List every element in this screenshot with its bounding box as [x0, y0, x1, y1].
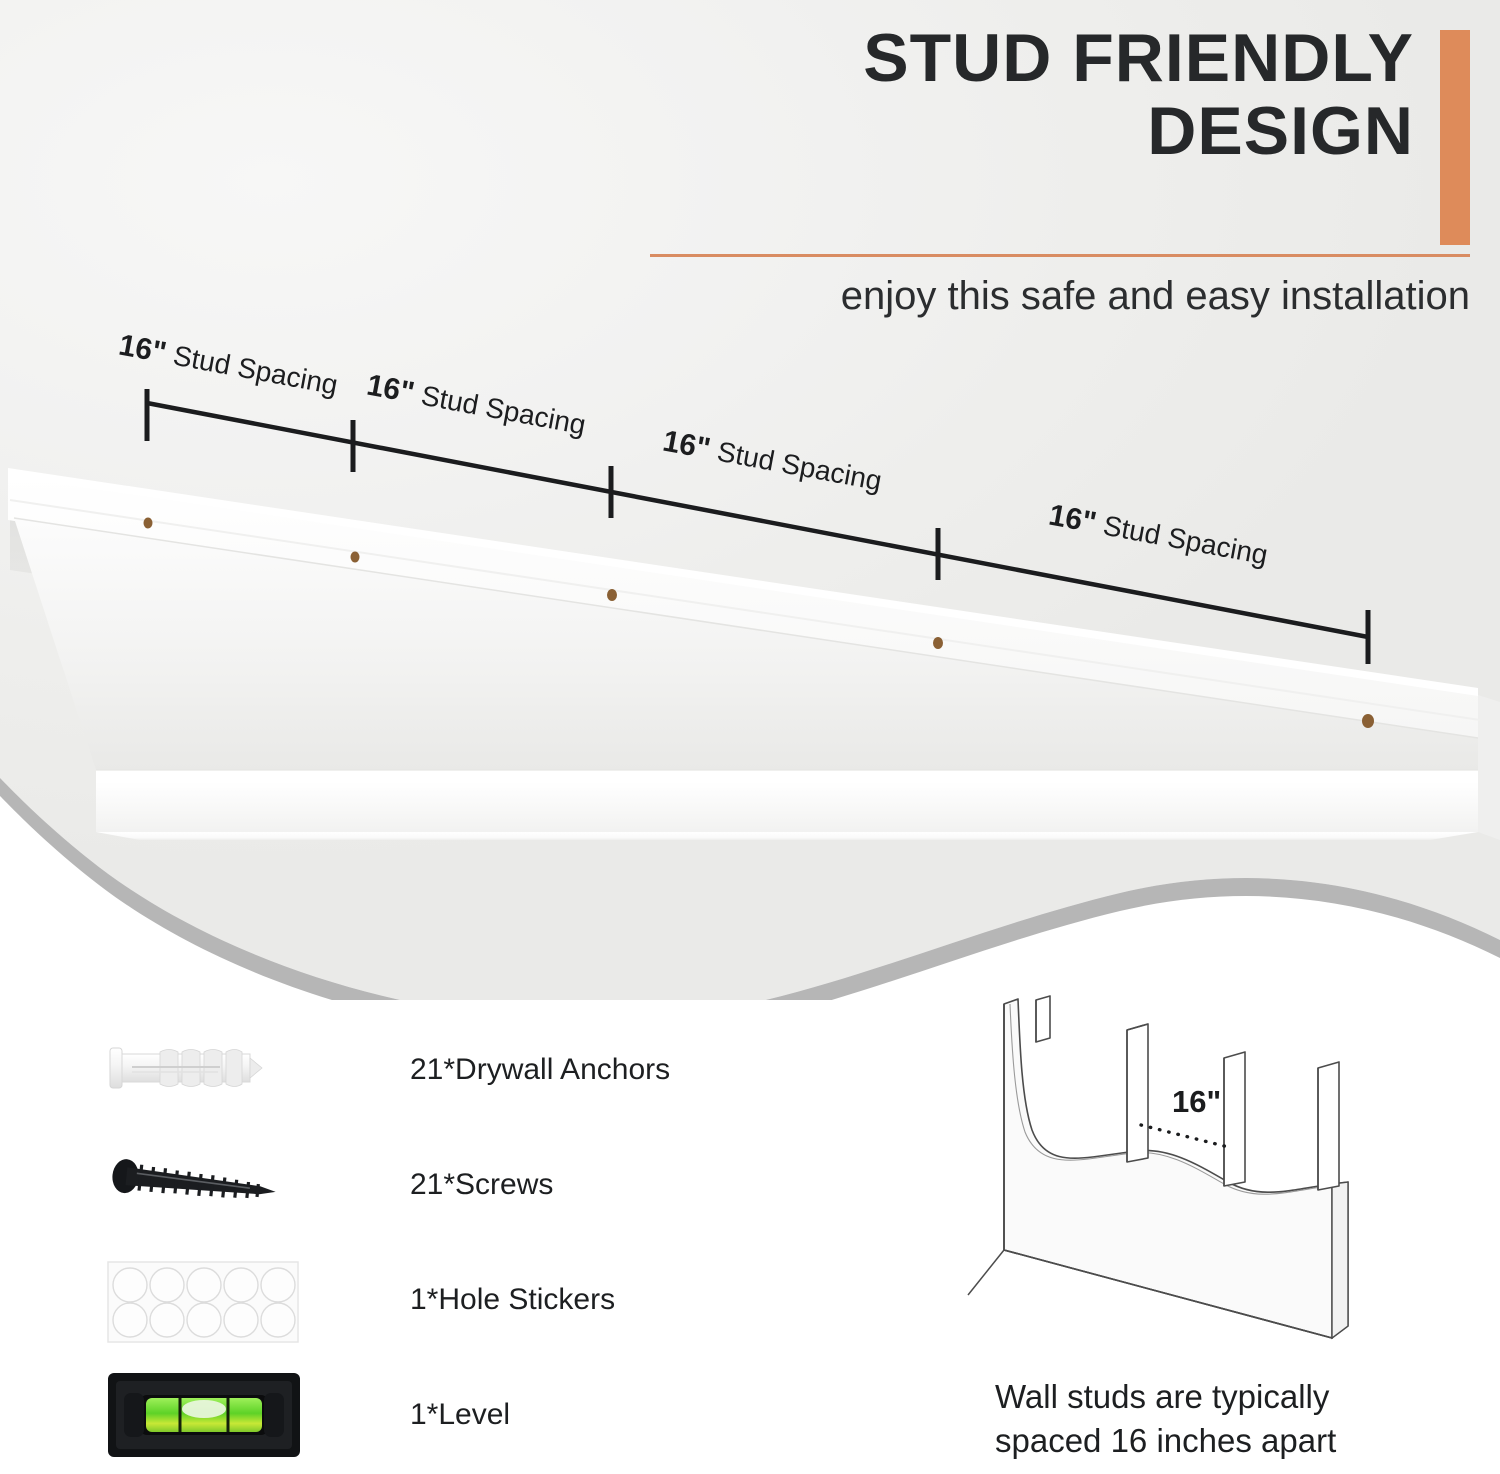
screw-hole [144, 518, 153, 529]
screw-hole [1362, 714, 1374, 728]
screw-hole [607, 589, 617, 601]
screw-icon [100, 1135, 320, 1235]
hole-stickers-icon [100, 1250, 320, 1350]
part-row: 1*Hole Stickers [100, 1242, 800, 1357]
title-line-2: DESIGN [650, 95, 1470, 168]
part-label: 21*Drywall Anchors [410, 1053, 670, 1087]
screw-hole [933, 637, 943, 649]
title-line-1: STUD FRIENDLY [650, 22, 1470, 95]
part-label: 1*Hole Stickers [410, 1283, 615, 1317]
part-label: 21*Screws [410, 1168, 553, 1202]
header-divider [650, 254, 1470, 257]
part-row: 21*Screws [100, 1127, 800, 1242]
product-infographic: STUD FRIENDLY DESIGN enjoy this safe and… [0, 0, 1500, 1474]
accent-bar [1440, 30, 1470, 245]
header-subtitle: enjoy this safe and easy installation [650, 274, 1470, 319]
page-title: STUD FRIENDLY DESIGN [650, 22, 1470, 169]
part-row: 1*Level [100, 1357, 800, 1472]
level-icon [100, 1365, 320, 1465]
drywall-anchor-icon [100, 1020, 320, 1120]
floating-shelf-product [0, 440, 1500, 860]
caption-line-1: Wall studs are typically [995, 1375, 1495, 1419]
wall-stud-diagram: 16" [960, 990, 1490, 1360]
part-row: 21*Drywall Anchors [100, 1012, 800, 1127]
caption-line-2: spaced 16 inches apart [995, 1419, 1495, 1463]
stud-diagram-caption: Wall studs are typically spaced 16 inche… [995, 1375, 1495, 1462]
header-block: STUD FRIENDLY DESIGN enjoy this safe and… [650, 22, 1470, 169]
stud-dimension-label: 16" [1172, 1084, 1221, 1119]
screw-hole [351, 552, 360, 563]
part-label: 1*Level [410, 1398, 510, 1432]
included-parts-list: 21*Drywall Anchors [100, 1012, 800, 1472]
